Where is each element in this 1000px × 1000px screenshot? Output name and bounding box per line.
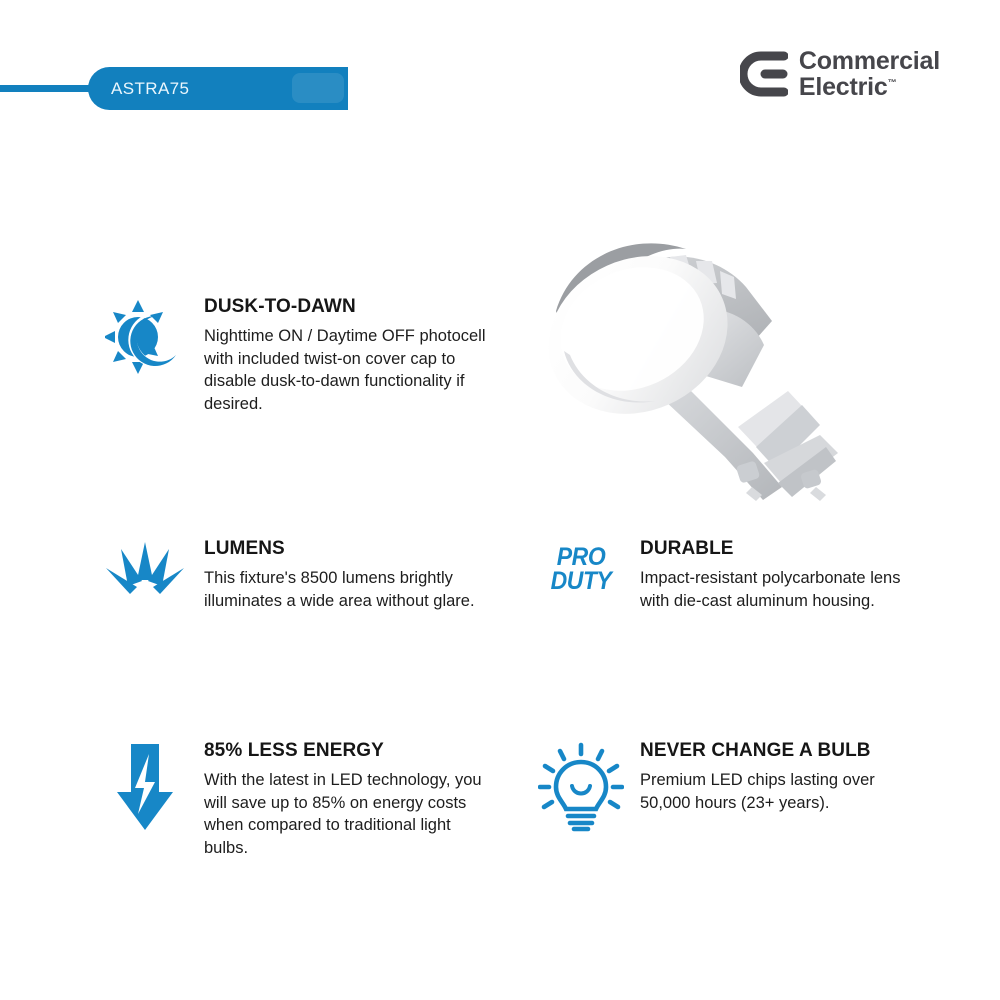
down-arrow-lightning-bolt-icon: [113, 742, 177, 832]
feature-body: This fixture's 8500 lumens brightly illu…: [204, 567, 486, 612]
feature-title: LUMENS: [204, 538, 486, 560]
product-feature-infographic: ASTRA75 Commercial Electric™: [0, 0, 1000, 1000]
feature-lumens: LUMENS This fixture's 8500 lumens bright…: [86, 538, 486, 612]
pro-duty-badge-icon: PRO DUTY: [551, 540, 612, 612]
sun-moon-icon: [105, 298, 185, 376]
feature-durable: PRO DUTY DURABLE Impact-resistant polyca…: [522, 538, 922, 612]
feature-body: With the latest in LED technology, you w…: [204, 769, 486, 859]
brand-name-line2: Electric: [799, 73, 888, 101]
model-number-text: ASTRA75: [88, 79, 189, 99]
feature-icon-cell: [86, 538, 204, 612]
feature-text-cell: NEVER CHANGE A BULB Premium LED chips la…: [640, 740, 922, 834]
light-bulb-icon: [538, 742, 624, 834]
feature-body: Impact-resistant polycarbonate lens with…: [640, 567, 922, 612]
feature-icon-cell: [86, 296, 204, 415]
feature-icon-cell: [522, 740, 640, 834]
feature-text-cell: LUMENS This fixture's 8500 lumens bright…: [204, 538, 486, 612]
feature-text-cell: DURABLE Impact-resistant polycarbonate l…: [640, 538, 922, 612]
brand-logo: Commercial Electric™: [740, 48, 940, 100]
commercial-electric-ce-monogram-icon: [740, 51, 788, 97]
feature-less-energy: 85% LESS ENERGY With the latest in LED t…: [86, 740, 486, 859]
feature-body: Premium LED chips lasting over 50,000 ho…: [640, 769, 922, 814]
brand-name-line2-wrap: Electric™: [799, 74, 940, 100]
feature-body: Nighttime ON / Daytime OFF photocell wit…: [204, 325, 486, 415]
pro-duty-line2: DUTY: [551, 570, 612, 594]
feature-icon-cell: [86, 740, 204, 859]
model-number-badge: ASTRA75: [88, 67, 348, 110]
feature-title: NEVER CHANGE A BULB: [640, 740, 922, 762]
feature-title: DUSK-TO-DAWN: [204, 296, 486, 318]
area-light-illustration-icon: [520, 195, 860, 515]
badge-inner-highlight: [292, 73, 344, 103]
feature-text-cell: 85% LESS ENERGY With the latest in LED t…: [204, 740, 486, 859]
feature-icon-cell: PRO DUTY: [522, 538, 640, 612]
feature-title: DURABLE: [640, 538, 922, 560]
product-image: [520, 195, 860, 515]
feature-text-cell: DUSK-TO-DAWN Nighttime ON / Daytime OFF …: [204, 296, 486, 415]
feature-dusk-to-dawn: DUSK-TO-DAWN Nighttime ON / Daytime OFF …: [86, 296, 486, 415]
light-rays-starburst-icon: [105, 540, 185, 596]
feature-never-change-bulb: NEVER CHANGE A BULB Premium LED chips la…: [522, 740, 922, 834]
feature-title: 85% LESS ENERGY: [204, 740, 486, 762]
brand-wordmark: Commercial Electric™: [799, 48, 940, 100]
brand-name-line1: Commercial: [799, 48, 940, 74]
trademark-symbol: ™: [888, 78, 897, 88]
